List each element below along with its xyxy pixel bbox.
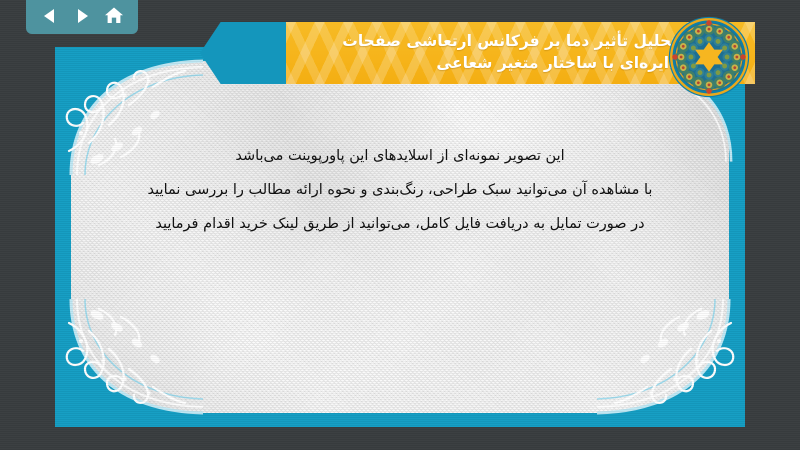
body-line-1: این تصویر نمونه‌ای از اسلایدهای این پاور… xyxy=(95,139,705,173)
triangle-left-icon[interactable] xyxy=(41,7,59,25)
body-line-3: در صورت تمایل به دریافت فایل کامل، می‌تو… xyxy=(95,207,705,241)
title-line-2: دایره‌ای با ساختار متغیر شعاعی xyxy=(342,52,677,74)
nav-forward-button[interactable] xyxy=(70,4,94,28)
content-panel: این تصویر نمونه‌ای از اسلایدهای این پاور… xyxy=(55,47,745,427)
islamic-rosette-medallion xyxy=(668,16,750,98)
body-text-block: این تصویر نمونه‌ای از اسلایدهای این پاور… xyxy=(95,139,705,241)
title-arrow-notch xyxy=(200,22,286,84)
body-line-2: با مشاهده آن می‌توانید سبک طراحی، رنگ‌بن… xyxy=(95,173,705,207)
page-title: تحلیل تأثیر دما بر فرکانس ارتعاشی صفحات … xyxy=(342,30,677,75)
nav-back-button[interactable] xyxy=(38,4,62,28)
triangle-right-icon[interactable] xyxy=(73,7,91,25)
home-icon[interactable] xyxy=(104,6,124,25)
nav-home-button[interactable] xyxy=(102,4,126,28)
navigation-bar[interactable] xyxy=(26,0,138,34)
title-line-1: تحلیل تأثیر دما بر فرکانس ارتعاشی صفحات xyxy=(342,32,677,50)
presentation-slide: این تصویر نمونه‌ای از اسلایدهای این پاور… xyxy=(0,0,800,450)
